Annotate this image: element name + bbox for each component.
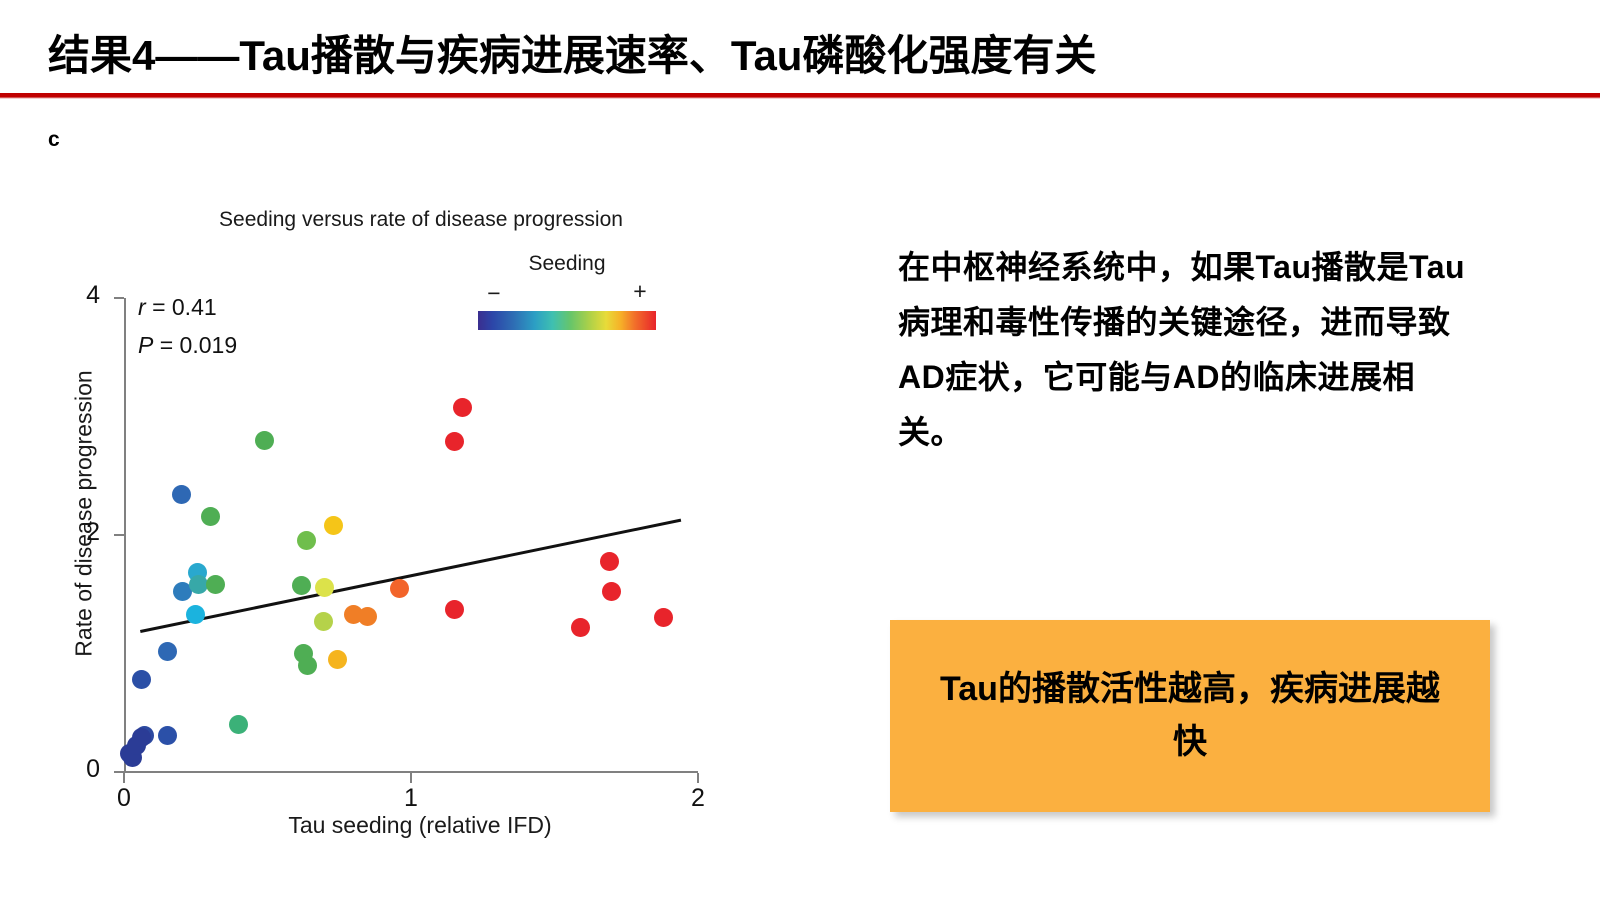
scatter-point xyxy=(292,576,311,595)
title-divider xyxy=(0,93,1600,98)
scatter-point xyxy=(255,431,274,450)
stat-p-value: = 0.019 xyxy=(160,332,237,358)
scatter-point xyxy=(186,605,205,624)
scatter-point xyxy=(571,618,590,637)
scatter-point xyxy=(328,650,347,669)
scatter-point xyxy=(298,656,317,675)
x-tick-label: 2 xyxy=(678,784,718,813)
scatter-point xyxy=(315,578,334,597)
y-axis-line xyxy=(124,298,126,772)
x-axis-label: Tau seeding (relative IFD) xyxy=(160,812,680,839)
scatter-point xyxy=(358,607,377,626)
conclusion-callout-text: Tau的播散活性越高，疾病进展越快 xyxy=(925,663,1455,768)
stat-r-value: = 0.41 xyxy=(152,294,217,320)
scatter-point xyxy=(445,600,464,619)
y-tick-label: 2 xyxy=(60,518,100,547)
scatter-point xyxy=(602,582,621,601)
x-tick-label: 0 xyxy=(104,784,144,813)
y-tick-label: 0 xyxy=(60,755,100,784)
scatter-point xyxy=(654,608,673,627)
scatter-point xyxy=(132,670,151,689)
scatter-point xyxy=(600,552,619,571)
scatter-point xyxy=(158,726,177,745)
scatter-point xyxy=(324,516,343,535)
x-tick xyxy=(410,773,412,783)
scatter-point xyxy=(158,642,177,661)
scatter-point xyxy=(206,575,225,594)
figure-panel: c Seeding versus rate of disease progres… xyxy=(0,100,860,900)
x-tick xyxy=(123,773,125,783)
scatter-point xyxy=(297,531,316,550)
scatter-point xyxy=(201,507,220,526)
scatter-point xyxy=(172,485,191,504)
scatter-point xyxy=(189,575,208,594)
y-tick xyxy=(114,297,124,299)
plot-area: r = 0.41 P = 0.019 Rate of disease progr… xyxy=(0,100,860,900)
stat-p: P = 0.019 xyxy=(138,332,237,359)
description-paragraph: 在中枢神经系统中，如果Tau播散是Tau病理和毒性传播的关键途径，进而导致AD症… xyxy=(898,240,1478,460)
y-tick-label: 4 xyxy=(60,281,100,310)
scatter-point xyxy=(390,579,409,598)
conclusion-callout: Tau的播散活性越高，疾病进展越快 xyxy=(890,620,1490,812)
scatter-point xyxy=(229,715,248,734)
stat-r: r = 0.41 xyxy=(138,294,217,321)
page-title: 结果4——Tau播散与疾病进展速率、Tau磷酸化强度有关 xyxy=(48,22,1096,83)
x-tick xyxy=(697,773,699,783)
scatter-point xyxy=(132,728,151,747)
trend-line xyxy=(140,518,682,632)
y-axis-label: Rate of disease progression xyxy=(71,354,98,674)
stat-p-symbol: P xyxy=(138,332,153,358)
scatter-point xyxy=(314,612,333,631)
slide-root: 结果4——Tau播散与疾病进展速率、Tau磷酸化强度有关 c Seeding v… xyxy=(0,0,1600,900)
scatter-point xyxy=(453,398,472,417)
stat-r-symbol: r xyxy=(138,294,146,320)
y-tick xyxy=(114,534,124,536)
scatter-point xyxy=(445,432,464,451)
x-tick-label: 1 xyxy=(391,784,431,813)
